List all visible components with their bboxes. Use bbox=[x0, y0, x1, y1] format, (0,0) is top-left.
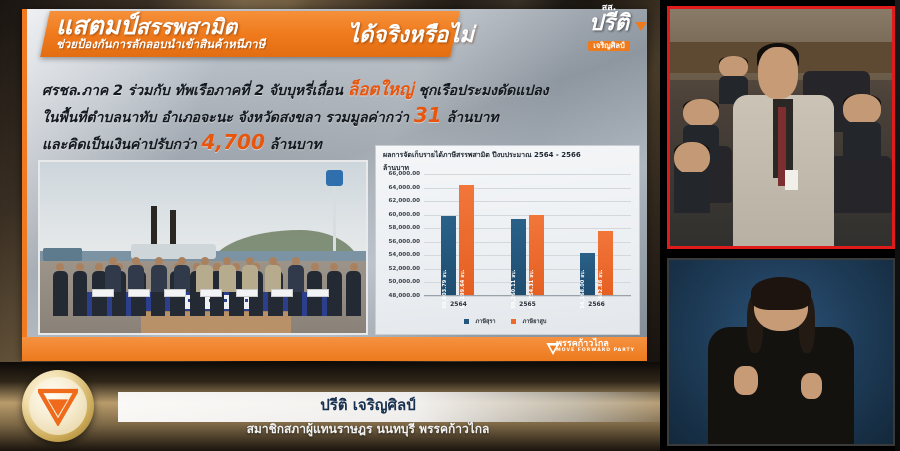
body-line-1-highlight: ล็อตใหญ่ bbox=[348, 80, 414, 100]
chart-legend-label: ภาษียาสูบ bbox=[523, 318, 547, 326]
chart-bar: 59,754.31 ลบ. bbox=[529, 215, 544, 295]
chart-y-tick-label: 52,000.00 bbox=[389, 266, 421, 272]
photo-person-head bbox=[292, 257, 300, 265]
chart-title: ผลการจัดเก็บรายได้ภาษีสรรพสามิต ปีงบประม… bbox=[383, 150, 581, 161]
photo-name-placard bbox=[128, 289, 150, 297]
photo-person bbox=[346, 271, 361, 315]
broadcast-screen: แสตมป์สรรพสามิต ช่วยป้องกันการลักลอบนำเข… bbox=[0, 0, 900, 451]
mp-face bbox=[758, 47, 798, 99]
screen-edge bbox=[895, 0, 900, 451]
chart-bar: 54,168.00 ลบ. bbox=[580, 253, 595, 295]
body-line-2-number: 31 bbox=[414, 103, 442, 127]
chart-gridline bbox=[424, 174, 631, 175]
chart-legend-item: ภาษีสุรา bbox=[464, 318, 501, 326]
chart-y-tick-label: 60,000.00 bbox=[389, 212, 421, 218]
photo-person-head bbox=[269, 257, 277, 265]
photo-person-head bbox=[178, 257, 186, 265]
photo-person-head bbox=[201, 257, 209, 265]
speaking-mp bbox=[750, 47, 817, 246]
headline-main-bold: แสตมป์ bbox=[56, 11, 136, 40]
body-line-3: และคิดเป็นเงินค่าปรับกว่า 4,700 ล้านบาท bbox=[42, 130, 322, 156]
mp-id-badge bbox=[785, 170, 798, 190]
chart-bar-value-label: 59,260.11 ลบ. bbox=[510, 269, 518, 308]
body-line-2: ในพื้นที่ตำบลนาทับ อำเภอจะนะ จังหวัดสงขล… bbox=[42, 103, 499, 129]
speaker-name: ปรีติ เจริญศิลป์ bbox=[118, 393, 618, 417]
chart-y-tick-label: 54,000.00 bbox=[389, 252, 421, 258]
photo-person bbox=[73, 271, 88, 315]
chart-y-tick-label: 62,000.00 bbox=[389, 198, 421, 204]
chart-x-tick-label: 2565 bbox=[519, 301, 536, 308]
party-footer-bar: พรรคก้าวไกล MOVE FORWARD PARTY bbox=[22, 337, 647, 361]
chart-gridline bbox=[424, 201, 631, 202]
headline-main-rest: สรรพสามิต bbox=[136, 15, 237, 39]
chamber-chair bbox=[830, 156, 892, 213]
photo-person-head bbox=[246, 257, 254, 265]
body-line-3-b: ล้านบาท bbox=[265, 137, 322, 153]
excise-revenue-chart: ผลการจัดเก็บรายได้ภาษีสรรพสามิต ปีงบประม… bbox=[375, 145, 640, 335]
chart-legend-label: ภาษีสุรา bbox=[476, 318, 496, 326]
photo-name-placard bbox=[307, 289, 329, 297]
photo-name-placard bbox=[92, 289, 114, 297]
photo-person-head bbox=[132, 257, 140, 265]
badge-triangle-icon bbox=[635, 22, 647, 31]
mp-badge: สส. ปรีติ เจริญศิลป์ bbox=[568, 4, 650, 58]
chart-y-tick-label: 48,000.00 bbox=[389, 293, 421, 299]
channel-logo-icon bbox=[22, 370, 94, 442]
photo-crane bbox=[333, 176, 336, 251]
body-line-1: ศรชล.ภาค 2 ร่วมกับ ทัพเรือภาคที่ 2 จับบุ… bbox=[42, 76, 549, 103]
photo-person bbox=[53, 271, 68, 315]
party-name-en: MOVE FORWARD PARTY bbox=[556, 349, 635, 354]
body-line-3-a: และคิดเป็นเงินค่าปรับกว่า bbox=[42, 137, 202, 153]
photo-name-placard bbox=[236, 289, 258, 297]
left-graphic-panel: แสตมป์สรรพสามิต ช่วยป้องกันการลักลอบนำเข… bbox=[0, 0, 660, 451]
interpreter-body bbox=[708, 327, 855, 444]
chart-legend-item: ภาษียาสูบ bbox=[511, 318, 552, 326]
body-line-2-a: ในพื้นที่ตำบลนาทับ อำเภอจะนะ จังหวัดสงขล… bbox=[42, 110, 414, 126]
photo-name-placard bbox=[164, 289, 186, 297]
photo-name-placard bbox=[271, 289, 293, 297]
ch7-mark-icon bbox=[38, 386, 78, 426]
speaker-title: สมาชิกสภาผู้แทนราษฎร นนทบุรี พรรคก้าวไกล bbox=[118, 420, 618, 439]
chart-y-tick-label: 58,000.00 bbox=[389, 225, 421, 231]
chart-bar: 59,260.11 ลบ. bbox=[511, 219, 526, 295]
photo-person-head bbox=[155, 257, 163, 265]
body-line-2-b: ล้านบาท bbox=[442, 110, 499, 126]
chart-y-tick-label: 64,000.00 bbox=[389, 185, 421, 191]
chart-x-tick-label: 2564 bbox=[450, 301, 467, 308]
chart-bar: 64,199.64 ลบ. bbox=[459, 185, 474, 295]
chart-gridline bbox=[424, 188, 631, 189]
body-line-3-number: 4,700 bbox=[202, 130, 265, 154]
body-line-1-b: ชุกเรือประมงดัดแปลง bbox=[413, 83, 548, 99]
photo-name-placard bbox=[200, 289, 222, 297]
chart-legend-swatch bbox=[511, 319, 516, 324]
seated-member bbox=[674, 142, 710, 213]
interpreter-hair bbox=[751, 277, 812, 309]
chart-plot-area: 66,000.0064,000.0062,000.0060,000.0058,0… bbox=[424, 174, 631, 296]
photo-boat bbox=[43, 248, 82, 262]
badge-surname: เจริญศิลป์ bbox=[588, 41, 630, 51]
headline: แสตมป์สรรพสามิต ช่วยป้องกันการลักลอบนำเข… bbox=[56, 13, 476, 57]
party-name: พรรคก้าวไกล MOVE FORWARD PARTY bbox=[556, 340, 635, 354]
interpreter-hand-right bbox=[801, 373, 823, 399]
photo-person-seated bbox=[219, 265, 235, 292]
parliament-speaker-feed[interactable] bbox=[667, 6, 895, 249]
chart-bar-value-label: 54,168.00 ลบ. bbox=[579, 269, 587, 308]
photo-person-head bbox=[109, 257, 117, 265]
seated-member bbox=[843, 94, 881, 160]
interpreter bbox=[736, 282, 826, 444]
chart-y-tick-label: 66,000.00 bbox=[389, 171, 421, 177]
body-line-1-a: ศรชล.ภาค 2 ร่วมกับ ทัพเรือภาคที่ 2 จับบุ… bbox=[42, 83, 348, 99]
chart-bar-value-label: 59,603.79 ลบ. bbox=[441, 269, 449, 308]
headline-tail: ได้จริงหรือไม่ bbox=[348, 25, 474, 47]
chart-legend-swatch bbox=[464, 319, 469, 324]
chart-bar: 59,603.79 ลบ. bbox=[441, 216, 456, 295]
press-conference-photo bbox=[38, 160, 368, 335]
chart-y-tick-label: 50,000.00 bbox=[389, 279, 421, 285]
chart-legend: ภาษีสุราภาษียาสูบ bbox=[376, 318, 639, 326]
chart-x-tick-label: 2566 bbox=[588, 301, 605, 308]
sign-language-interpreter-feed[interactable] bbox=[667, 258, 895, 446]
chart-y-tick-label: 56,000.00 bbox=[389, 239, 421, 245]
chart-bar: 57,482.88 ลบ. bbox=[598, 231, 613, 295]
interpreter-hand-left bbox=[734, 366, 757, 395]
